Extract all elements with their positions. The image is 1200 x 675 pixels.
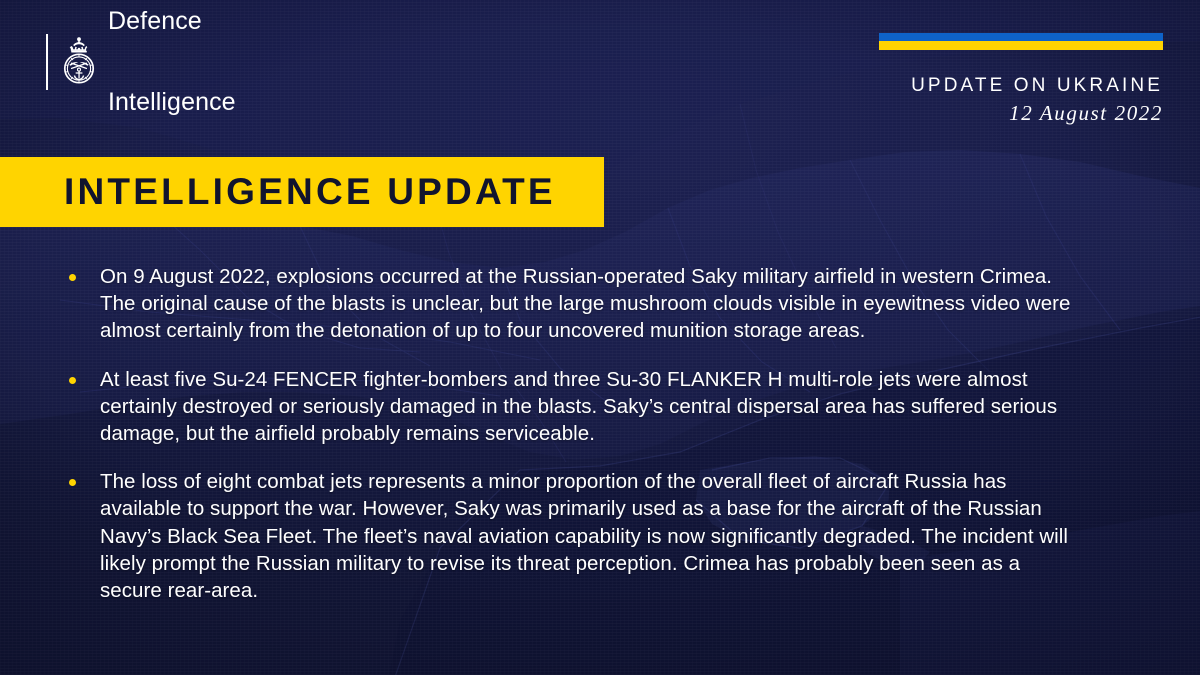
bullet-paragraph: On 9 August 2022, explosions occurred at… bbox=[100, 263, 1072, 345]
brand-divider-rule bbox=[46, 34, 48, 90]
update-date: 12 August 2022 bbox=[879, 100, 1163, 126]
list-item: The loss of eight combat jets represents… bbox=[62, 468, 1072, 604]
yellow-dot-bullet-icon bbox=[69, 479, 76, 486]
flag-yellow-stripe bbox=[879, 41, 1163, 50]
ukraine-flag-icon bbox=[879, 33, 1163, 50]
list-item: On 9 August 2022, explosions occurred at… bbox=[62, 263, 1072, 345]
intelligence-update-poster: Defence Intelligence UPDATE ON UKRAINE 1… bbox=[0, 0, 1200, 675]
yellow-dot-bullet-icon bbox=[69, 274, 76, 281]
update-kicker: UPDATE ON UKRAINE bbox=[879, 74, 1163, 98]
organisation-line-1: Defence bbox=[108, 8, 236, 35]
yellow-dot-bullet-icon bbox=[69, 377, 76, 384]
intelligence-update-banner: INTELLIGENCE UPDATE bbox=[0, 157, 604, 227]
bullet-list: On 9 August 2022, explosions occurred at… bbox=[62, 263, 1072, 604]
bullet-paragraph: At least five Su-24 FENCER fighter-bombe… bbox=[100, 366, 1072, 448]
organisation-wordmark: Defence Intelligence bbox=[108, 0, 236, 170]
banner-title: INTELLIGENCE UPDATE bbox=[0, 171, 556, 213]
list-item: At least five Su-24 FENCER fighter-bombe… bbox=[62, 366, 1072, 448]
defence-intelligence-brand: Defence Intelligence bbox=[46, 33, 236, 91]
organisation-line-2: Intelligence bbox=[108, 89, 236, 116]
bullet-paragraph: The loss of eight combat jets represents… bbox=[100, 468, 1072, 604]
flag-blue-stripe bbox=[879, 33, 1163, 41]
defence-intelligence-crest-icon bbox=[61, 36, 97, 88]
header-right-block: UPDATE ON UKRAINE 12 August 2022 bbox=[879, 33, 1163, 126]
